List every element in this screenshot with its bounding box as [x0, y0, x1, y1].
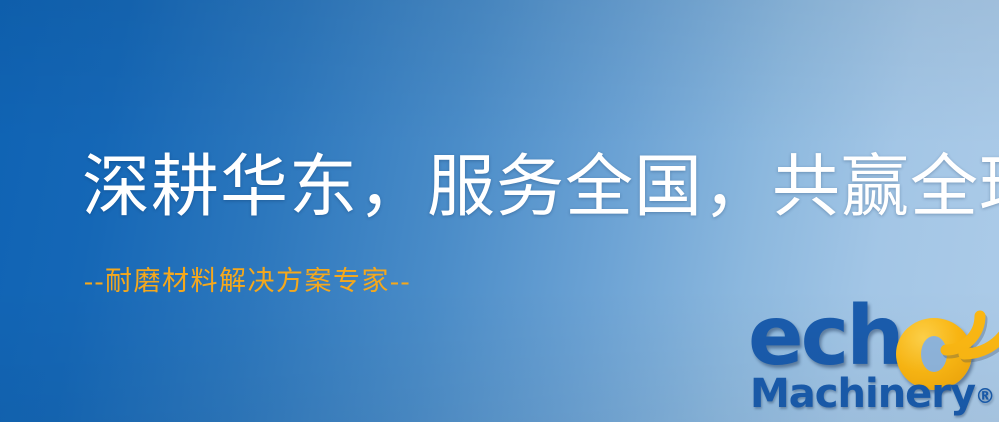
registered-trademark-mark: ®	[975, 384, 995, 408]
banner-headline: 深耕华东，服务全国，共赢全球	[82, 153, 999, 221]
wifi-signal-arcs-icon	[934, 292, 999, 372]
logo-tagline: Machinery®	[750, 374, 995, 414]
banner-subtitle: --耐磨材料解决方案专家--	[84, 268, 411, 295]
logo-wordmark-text: ech	[748, 296, 902, 378]
company-logo: ech Machinery®	[748, 296, 994, 422]
promotional-banner: 深耕华东，服务全国，共赢全球 --耐磨材料解决方案专家-- ech Machin…	[0, 0, 999, 422]
logo-tagline-text: Machinery	[750, 371, 975, 417]
